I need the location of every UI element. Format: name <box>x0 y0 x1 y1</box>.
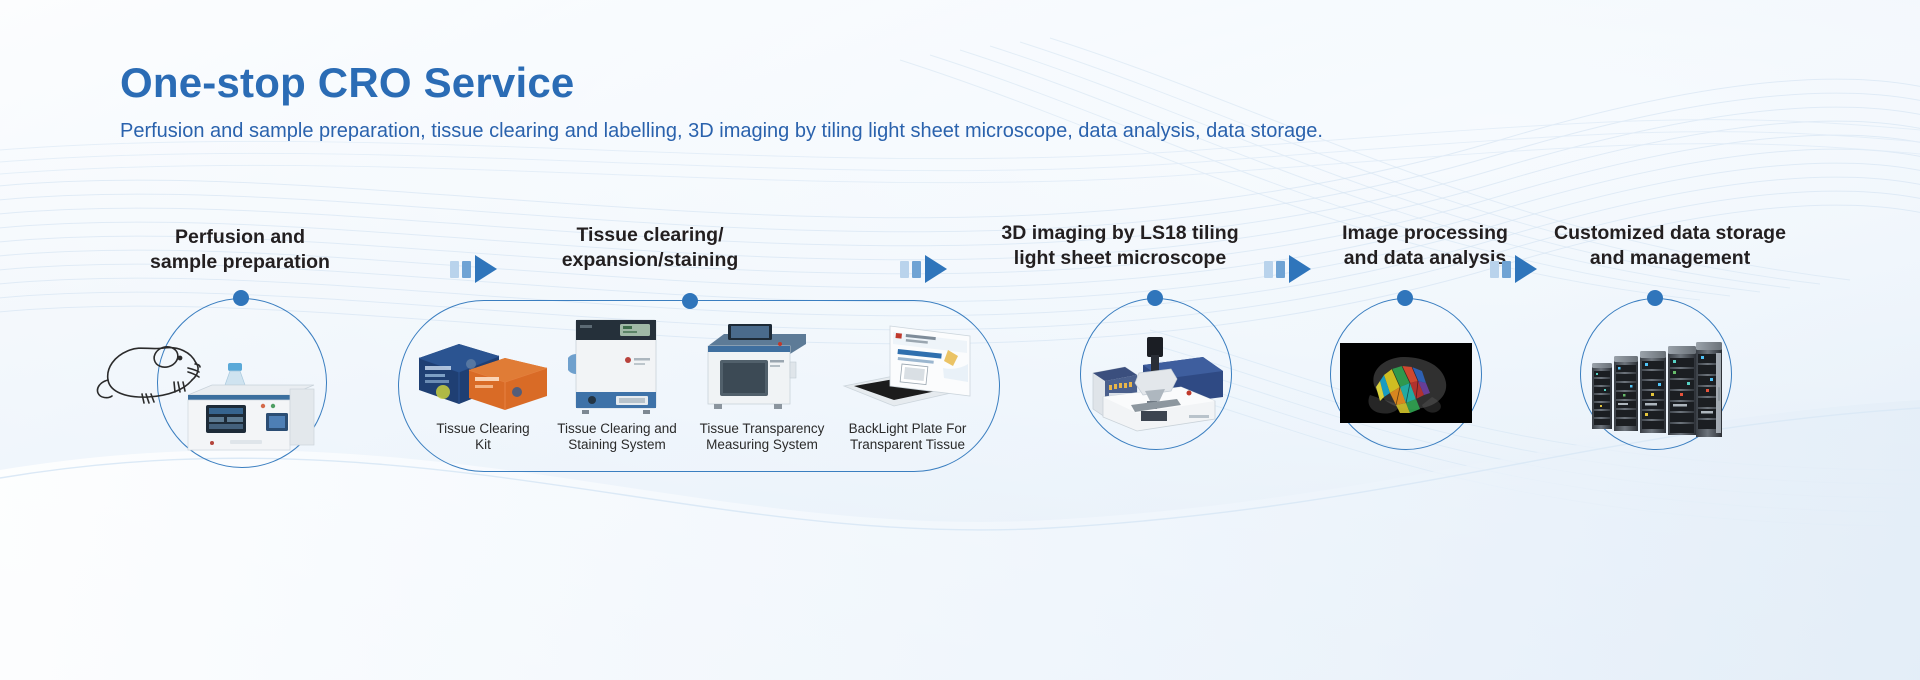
reagent-kit-boxes-icon <box>413 330 563 410</box>
server-racks-icon <box>1588 333 1726 443</box>
backlight-plate-icon <box>840 320 975 416</box>
step-circle-dot-perfusion <box>233 290 249 306</box>
arrow-head-icon <box>1515 255 1537 283</box>
arrow-4 <box>1490 255 1537 283</box>
arrow-dash-dark-icon <box>1276 261 1285 278</box>
perfusion-system-icon <box>178 361 318 461</box>
page-subtitle: Perfusion and sample preparation, tissue… <box>120 120 1323 143</box>
product-caption-backlight-plate-for-transparent-tissue: BackLight Plate For Transparent Tissue <box>825 421 990 453</box>
clearing-staining-cabinet-icon <box>568 318 666 414</box>
product-caption-tissue-transparency-measuring-system: Tissue Transparency Measuring System <box>677 421 847 453</box>
arrow-1 <box>450 255 497 283</box>
cro-service-banner: One-stop CRO Service Perfusion and sampl… <box>0 0 1920 680</box>
arrow-dash-dark-icon <box>1502 261 1511 278</box>
arrow-dash-light-icon <box>1264 261 1273 278</box>
banner-heading: One-stop CRO Service Perfusion and sampl… <box>120 60 1323 143</box>
arrow-dash-dark-icon <box>462 261 471 278</box>
step-circle-dot-storage <box>1647 290 1663 306</box>
segmented-brain-render-icon <box>1340 343 1472 423</box>
arrow-dash-light-icon <box>450 261 459 278</box>
step-label-perfusion: Perfusion and sample preparation <box>100 225 380 275</box>
arrow-head-icon <box>1289 255 1311 283</box>
step-label-imaging: 3D imaging by LS18 tiling light sheet mi… <box>970 221 1270 271</box>
step-circle-dot-clearing <box>682 293 698 309</box>
arrow-dash-light-icon <box>1490 261 1499 278</box>
page-title: One-stop CRO Service <box>120 60 1323 106</box>
transparency-measuring-instrument-icon <box>702 320 812 414</box>
step-circle-dot-imaging <box>1147 290 1163 306</box>
step-circle-dot-analysis <box>1397 290 1413 306</box>
arrow-head-icon <box>475 255 497 283</box>
arrow-2 <box>900 255 947 283</box>
step-label-storage: Customized data storage and management <box>1520 221 1820 271</box>
arrow-dash-light-icon <box>900 261 909 278</box>
arrow-head-icon <box>925 255 947 283</box>
product-caption-tissue-clearing-and-staining-system: Tissue Clearing and Staining System <box>537 421 697 453</box>
arrow-dash-dark-icon <box>912 261 921 278</box>
step-label-clearing: Tissue clearing/ expansion/staining <box>450 223 850 273</box>
arrow-3 <box>1264 255 1311 283</box>
light-sheet-microscope-icon <box>1085 335 1227 435</box>
workflow-diagram: Perfusion and sample preparation Tissue … <box>0 235 1920 555</box>
